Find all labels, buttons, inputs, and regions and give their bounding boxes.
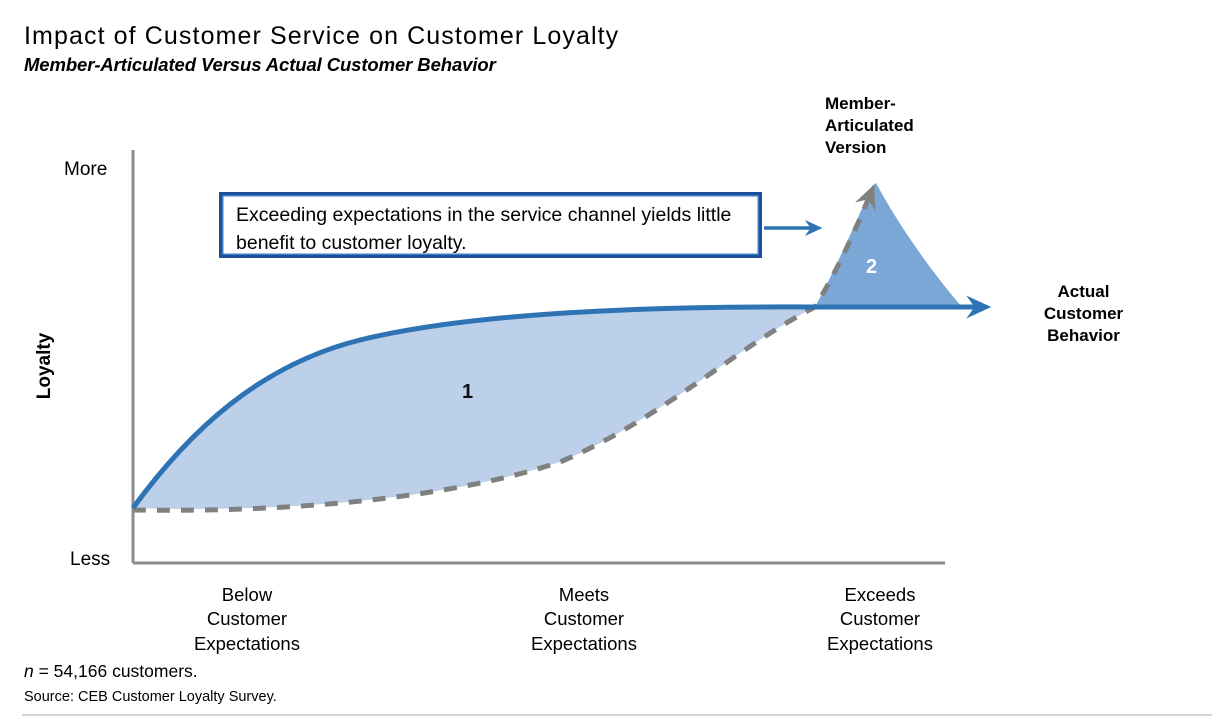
- x-tick-line-1: Exceeds: [770, 583, 990, 607]
- y-axis-label-less: Less: [70, 549, 110, 571]
- region-2-fill: [815, 183, 962, 307]
- region-2-numeral: 2: [866, 256, 877, 279]
- x-tick-line-3: Expectations: [137, 632, 357, 656]
- label-line-2: Articulated: [825, 115, 995, 137]
- label-actual-customer-behavior: Actual Customer Behavior: [996, 281, 1171, 347]
- footnote-n-value: = 54,166 customers.: [34, 661, 198, 681]
- region-1-fill: [133, 307, 815, 509]
- footnote-n-symbol: n: [24, 661, 34, 681]
- label-line-2: Customer: [996, 303, 1171, 325]
- x-axis-tick-meets: Meets Customer Expectations: [474, 583, 694, 656]
- label-line-3: Behavior: [996, 325, 1171, 347]
- footnote-source: Source: CEB Customer Loyalty Survey.: [24, 689, 277, 705]
- y-axis-label-more: More: [64, 159, 107, 181]
- callout-text: Exceeding expectations in the service ch…: [236, 202, 748, 257]
- x-axis-tick-exceeds: Exceeds Customer Expectations: [770, 583, 990, 656]
- footnote-sample-size: n = 54,166 customers.: [24, 661, 198, 682]
- x-tick-line-1: Meets: [474, 583, 694, 607]
- x-tick-line-2: Customer: [474, 607, 694, 631]
- x-tick-line-3: Expectations: [474, 632, 694, 656]
- label-line-1: Member-: [825, 93, 995, 115]
- callout-box: Exceeding expectations in the service ch…: [219, 192, 762, 258]
- label-line-3: Version: [825, 137, 995, 159]
- y-axis-title: Loyalty: [34, 306, 56, 426]
- x-tick-line-1: Below: [137, 583, 357, 607]
- x-tick-line-3: Expectations: [770, 632, 990, 656]
- label-line-1: Actual: [996, 281, 1171, 303]
- region-1-numeral: 1: [462, 381, 473, 404]
- x-tick-line-2: Customer: [137, 607, 357, 631]
- x-tick-line-2: Customer: [770, 607, 990, 631]
- bottom-divider: [22, 714, 1212, 716]
- x-axis-tick-below: Below Customer Expectations: [137, 583, 357, 656]
- label-member-articulated-version: Member- Articulated Version: [825, 93, 995, 158]
